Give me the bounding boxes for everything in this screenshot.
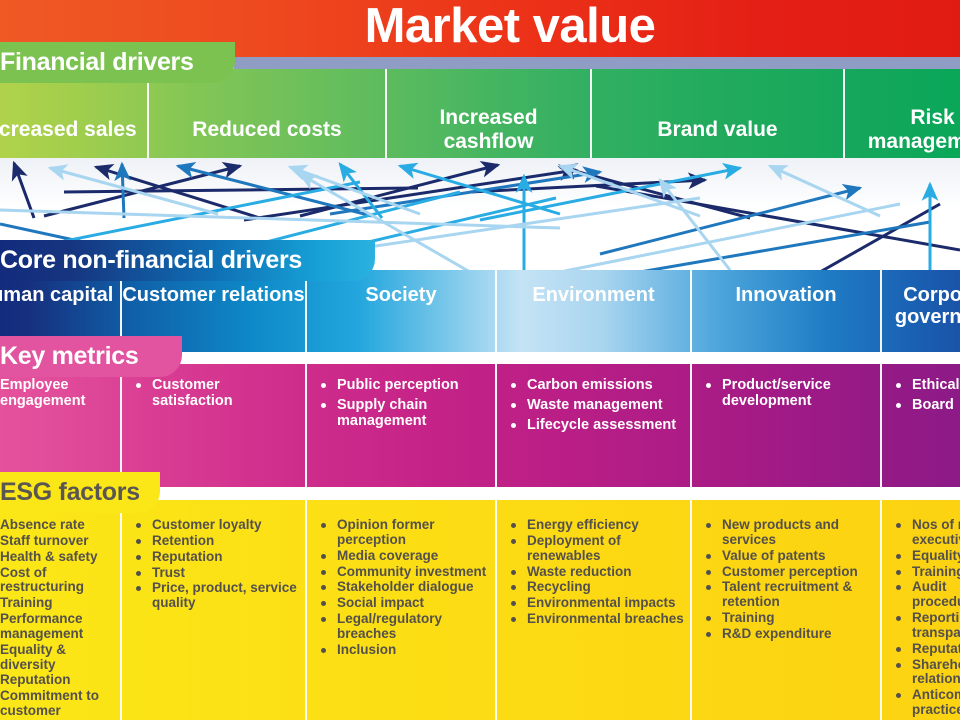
key-metrics-list: Employee engagement [0, 378, 114, 410]
key-metrics-list: Product/service development [702, 378, 874, 410]
list-item: Price, product, service quality [132, 581, 301, 611]
list-item: New products and services [702, 518, 876, 548]
list-item: Audit procedures [892, 580, 960, 610]
list-item: Community investment [317, 565, 491, 580]
list-item: Reputation [892, 642, 960, 657]
esg-factors-cell-2[interactable]: Opinion former perceptionMedia coverageC… [305, 500, 495, 720]
list-item: Supply chain management [317, 398, 489, 430]
esg-factors-cell-5[interactable]: Nos of non-executive/independentEquality… [880, 500, 960, 720]
list-item: R&D expenditure [702, 627, 876, 642]
financial-driver-label: Brand value [651, 118, 783, 142]
financial-driver-label: Reduced costs [186, 118, 347, 142]
list-item: Board [892, 398, 960, 414]
financial-driver-label: Increased sales [0, 118, 143, 142]
list-item: Nos of non-executive/independent [892, 518, 960, 548]
esg-factors-cell-1[interactable]: Customer loyaltyRetentionReputationTrust… [120, 500, 305, 720]
key-metrics-cell-3[interactable]: Carbon emissionsWaste managementLifecycl… [495, 364, 690, 487]
tab-financial-drivers[interactable]: Financial drivers [0, 42, 235, 83]
esg-factors-list: New products and servicesValue of patent… [702, 518, 876, 642]
list-item: Carbon emissions [507, 378, 684, 394]
title-underband [234, 57, 960, 69]
key-metrics-list: Carbon emissionsWaste managementLifecycl… [507, 378, 684, 434]
key-metrics-cell-1[interactable]: Customer satisfaction [120, 364, 305, 487]
non-financial-driver-cell-4[interactable]: Innovation [690, 270, 880, 352]
esg-factors-list: Opinion former perceptionMedia coverageC… [317, 518, 491, 658]
key-metrics-cell-5[interactable]: EthicalBoard [880, 364, 960, 487]
list-item: Lifecycle assessment [507, 418, 684, 434]
esg-factors-cell-4[interactable]: New products and servicesValue of patent… [690, 500, 880, 720]
tab-key-metrics[interactable]: Key metrics [0, 336, 182, 377]
tab-key-metrics-label: Key metrics [0, 342, 138, 371]
infographic-root: Market value Increased sales Reduced cos… [0, 0, 960, 720]
tab-non-financial-drivers-label: Core non-financial drivers [0, 246, 302, 275]
non-financial-driver-label: Customer relations [122, 284, 304, 306]
non-financial-driver-label: Innovation [735, 284, 836, 306]
key-metrics-row: Employee engagement Customer satisfactio… [0, 364, 960, 487]
list-item: Opinion former perception [317, 518, 491, 548]
list-item: Retention [132, 534, 301, 549]
esg-factors-row: Absence rateStaff turnoverHealth & safet… [0, 500, 960, 720]
tab-esg-factors-label: ESG factors [0, 478, 140, 507]
esg-factors-cell-3[interactable]: Energy efficiencyDeployment of renewable… [495, 500, 690, 720]
list-item: Trust [132, 566, 301, 581]
list-item: Reputation [0, 673, 116, 688]
non-financial-driver-cell-2[interactable]: Society [305, 270, 495, 352]
list-item: Health & safety [0, 550, 116, 565]
list-item: Equality [892, 549, 960, 564]
esg-factors-list: Energy efficiencyDeployment of renewable… [507, 518, 686, 627]
non-financial-driver-label: Human capital [0, 284, 113, 306]
key-metrics-list: EthicalBoard [892, 378, 960, 414]
financial-driver-label: Increased cashflow [387, 106, 590, 153]
tab-non-financial-drivers[interactable]: Core non-financial drivers [0, 240, 375, 281]
list-item: Performance management [0, 612, 116, 642]
list-item: Customer satisfaction [132, 378, 299, 410]
financial-driver-cell-3[interactable]: Brand value [590, 69, 843, 159]
list-item: Training [892, 565, 960, 580]
key-metrics-cell-2[interactable]: Public perceptionSupply chain management [305, 364, 495, 487]
financial-driver-label: Risk management [845, 106, 960, 153]
list-item: Customer perception [702, 565, 876, 580]
esg-factors-list: Customer loyaltyRetentionReputationTrust… [132, 518, 301, 611]
list-item: Reporting transparency [892, 611, 960, 641]
non-financial-driver-cell-5[interactable]: Corporate governance [880, 270, 960, 352]
esg-factors-list: Absence rateStaff turnoverHealth & safet… [0, 518, 116, 720]
list-item: Training [0, 596, 116, 611]
list-item: Legal/regulatory breaches [317, 612, 491, 642]
list-item: Reputation [132, 550, 301, 565]
list-item: Anticompetitive practices [892, 688, 960, 718]
list-item: Talent recruitment & retention [702, 580, 876, 610]
list-item: Employee engagement [0, 378, 114, 410]
esg-factors-cell-0[interactable]: Absence rateStaff turnoverHealth & safet… [0, 500, 120, 720]
list-item: Shareholder relations [892, 658, 960, 688]
list-item: Cost of restructuring [0, 566, 116, 596]
key-metrics-list: Public perceptionSupply chain management [317, 378, 489, 430]
non-financial-driver-label: Corporate governance [882, 284, 960, 328]
financial-driver-cell-4[interactable]: Risk management [843, 69, 960, 159]
list-item: Stakeholder dialogue [317, 580, 491, 595]
tab-esg-factors[interactable]: ESG factors [0, 472, 160, 513]
list-item: Public perception [317, 378, 489, 394]
key-metrics-cell-4[interactable]: Product/service development [690, 364, 880, 487]
esg-factors-list: Nos of non-executive/independentEquality… [892, 518, 960, 720]
list-item: Deployment of renewables [507, 534, 686, 564]
list-item: Recycling [507, 580, 686, 595]
tab-financial-drivers-label: Financial drivers [0, 48, 194, 77]
key-metrics-list: Customer satisfaction [132, 378, 299, 410]
non-financial-driver-label: Environment [532, 284, 654, 306]
list-item: Social impact [317, 596, 491, 611]
list-item: Staff turnover [0, 534, 116, 549]
list-item: Inclusion [317, 643, 491, 658]
list-item: Equality & diversity [0, 643, 116, 673]
list-item: Value of patents [702, 549, 876, 564]
non-financial-driver-label: Society [365, 284, 436, 306]
list-item: Environmental breaches [507, 612, 686, 627]
list-item: Media coverage [317, 549, 491, 564]
key-metrics-cell-0[interactable]: Employee engagement [0, 364, 120, 487]
list-item: Product/service development [702, 378, 874, 410]
list-item: Training [702, 611, 876, 626]
list-item: Environmental impacts [507, 596, 686, 611]
list-item: Absence rate [0, 518, 116, 533]
list-item: Customer loyalty [132, 518, 301, 533]
list-item: Waste reduction [507, 565, 686, 580]
non-financial-driver-cell-3[interactable]: Environment [495, 270, 690, 352]
list-item: Ethical [892, 378, 960, 394]
list-item: Commitment to customer [0, 689, 116, 719]
list-item: Energy efficiency [507, 518, 686, 533]
financial-driver-cell-2[interactable]: Increased cashflow [385, 69, 590, 159]
list-item: Waste management [507, 398, 684, 414]
